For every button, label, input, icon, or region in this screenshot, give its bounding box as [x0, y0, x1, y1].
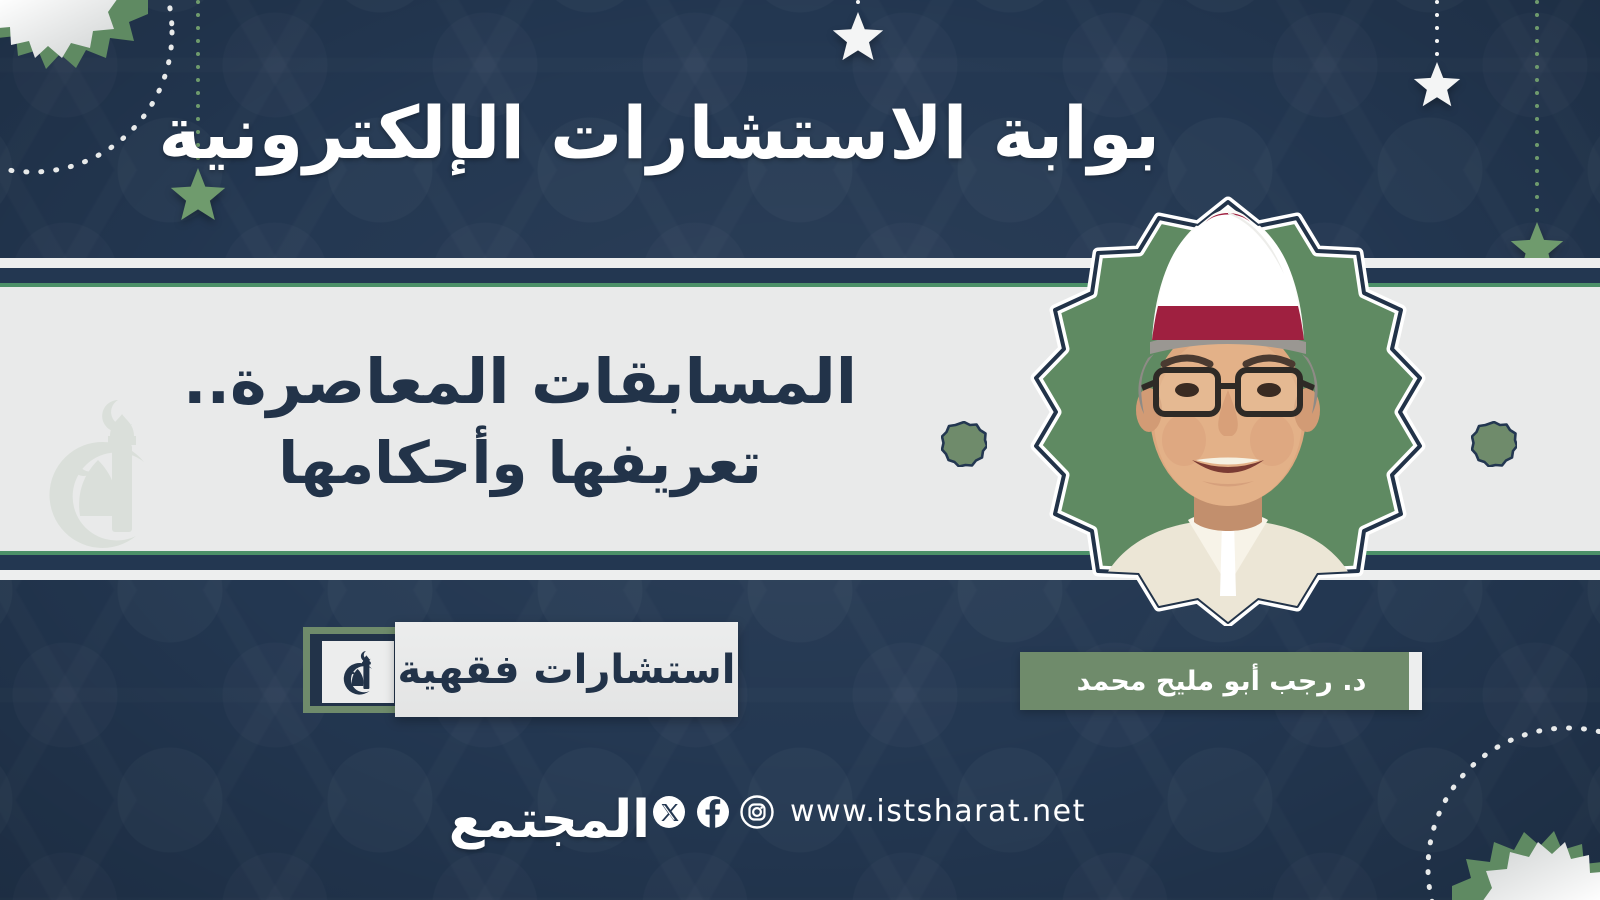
rosette-ornament-right [1471, 421, 1517, 467]
bead-string [1435, 0, 1439, 62]
bead-string [1535, 0, 1539, 222]
mosque-crescent-icon [338, 649, 378, 695]
badge-logo-frame [303, 627, 409, 713]
website-url[interactable]: www.istsharat.net [790, 794, 1086, 829]
badge-logo-plate [322, 641, 394, 703]
instagram-icon[interactable] [740, 795, 774, 829]
title-line-2: تعريفها وأحكامها [150, 432, 890, 495]
social-links[interactable] [652, 795, 774, 829]
title-line-1: المسابقات المعاصرة.. [150, 349, 890, 416]
header-calligraphy-title: بوابة الاستشارات الإلكترونية [440, 58, 1160, 208]
speaker-name: د. رجب أبو مليح محمد [1020, 666, 1409, 697]
x-twitter-icon[interactable] [652, 795, 686, 829]
footer-brand-calligraphy: المجتمع [480, 774, 650, 866]
speaker-portrait [1006, 196, 1450, 626]
rosette-frame-icon [1006, 196, 1450, 626]
speaker-nameplate: د. رجب أبو مليح محمد [1020, 652, 1422, 710]
star-icon [1413, 62, 1461, 108]
star-icon [832, 12, 884, 62]
page-title: المسابقات المعاصرة.. تعريفها وأحكامها [150, 292, 890, 552]
nameplate-accent-tick [1409, 652, 1422, 710]
corner-ornament-bottom-right [1452, 752, 1600, 900]
corner-ornament-top-left [0, 0, 148, 148]
facebook-icon[interactable] [696, 795, 730, 829]
badge-label: استشارات فقهية [395, 622, 738, 717]
poster-canvas: بوابة الاستشارات الإلكترونية [0, 0, 1600, 900]
rosette-ornament-left [941, 421, 987, 467]
